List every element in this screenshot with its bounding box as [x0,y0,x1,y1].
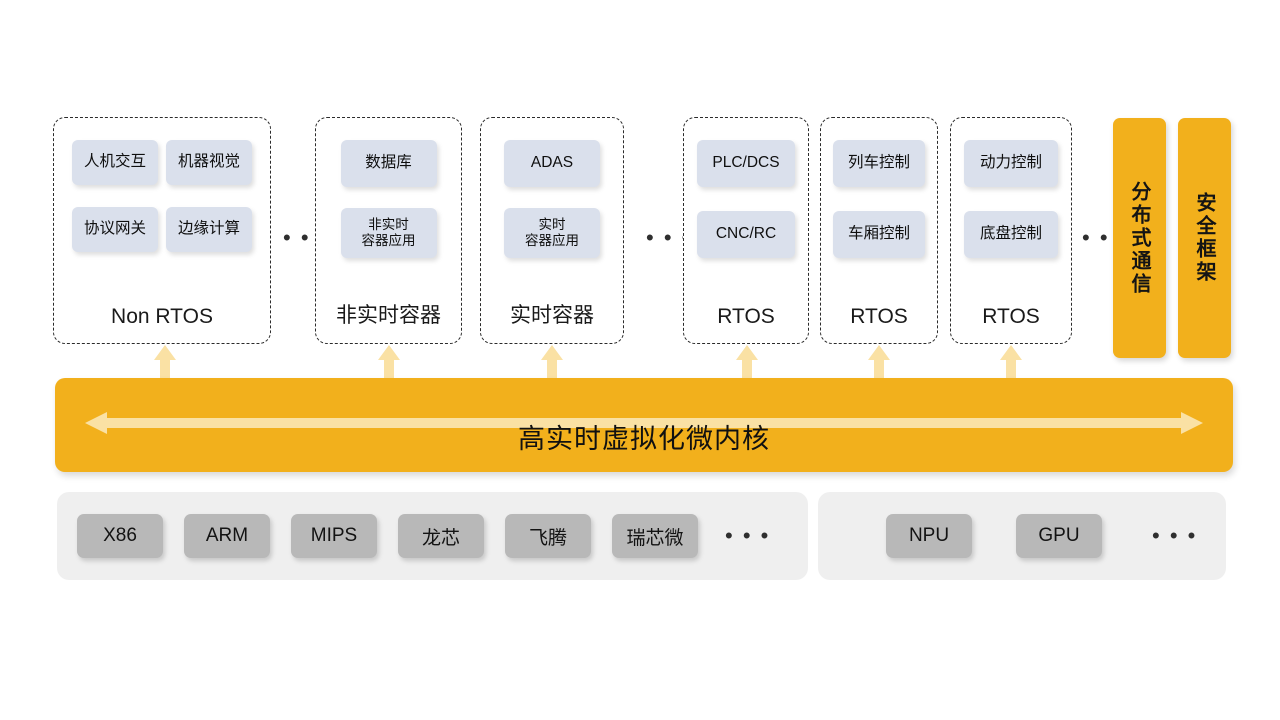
app-box[interactable]: 动力控制 [964,140,1058,187]
hw-chip[interactable]: 飞腾 [505,514,591,558]
os-group-label: 非实时容器 [336,299,441,329]
app-box[interactable]: 非实时 容器应用 [341,208,437,258]
os-group-rtos-industrial[interactable]: PLC/DCS CNC/RC RTOS [683,117,809,344]
os-group-label: RTOS [717,305,775,329]
hw-chip[interactable]: NPU [886,514,972,558]
app-box[interactable]: CNC/RC [697,211,795,258]
app-box[interactable]: 数据库 [341,140,437,187]
app-box[interactable]: 车厢控制 [833,211,925,258]
app-box[interactable]: 边缘计算 [166,207,252,252]
hardware-panel-cpu: X86 ARM MIPS 龙芯 飞腾 瑞芯微 • • • [57,492,808,580]
app-box[interactable]: ADAS [504,140,600,187]
os-group-label: 实时容器 [510,299,594,329]
os-group-non-rtos[interactable]: 人机交互 机器视觉 协议网关 边缘计算 Non RTOS [53,117,271,344]
side-panel-label: 分布式通信 [1125,181,1154,296]
app-box[interactable]: 底盘控制 [964,211,1058,258]
os-group-label: Non RTOS [111,305,213,329]
hw-chip[interactable]: 瑞芯微 [612,514,698,558]
kernel-title: 高实时虚拟化微内核 [518,417,770,456]
app-box[interactable]: 机器视觉 [166,140,252,185]
hw-chip[interactable]: GPU [1016,514,1102,558]
app-box[interactable]: 实时 容器应用 [504,208,600,258]
kernel-bar[interactable]: 高实时虚拟化微内核 [55,378,1233,472]
hardware-ellipsis: • • • [725,523,770,549]
os-group-rtos-rail[interactable]: 列车控制 车厢控制 RTOS [820,117,938,344]
os-group-rtos-automotive[interactable]: 动力控制 底盘控制 RTOS [950,117,1072,344]
side-panel-distributed-communication[interactable]: 分布式通信 [1113,118,1166,358]
side-panel-security-framework[interactable]: 安全框架 [1178,118,1231,358]
hw-chip[interactable]: X86 [77,514,163,558]
app-box[interactable]: 协议网关 [72,207,158,252]
os-group-non-realtime-container[interactable]: 数据库 非实时 容器应用 非实时容器 [315,117,462,344]
diagram-canvas: 人机交互 机器视觉 协议网关 边缘计算 Non RTOS • • • 数据库 非… [0,0,1280,720]
hw-chip[interactable]: ARM [184,514,270,558]
app-row: 人机交互 机器视觉 [72,140,252,185]
app-box[interactable]: 列车控制 [833,140,925,187]
os-group-label: RTOS [982,305,1040,329]
side-panel-label: 安全框架 [1190,192,1219,284]
hw-chip[interactable]: 龙芯 [398,514,484,558]
hw-chip[interactable]: MIPS [291,514,377,558]
app-box[interactable]: 人机交互 [72,140,158,185]
app-box[interactable]: PLC/DCS [697,140,795,187]
hardware-panel-accelerator: NPU GPU • • • [818,492,1226,580]
os-group-label: RTOS [850,305,908,329]
os-group-realtime-container[interactable]: ADAS 实时 容器应用 实时容器 [480,117,624,344]
hardware-ellipsis: • • • [1152,523,1197,549]
app-row: 协议网关 边缘计算 [72,207,252,252]
